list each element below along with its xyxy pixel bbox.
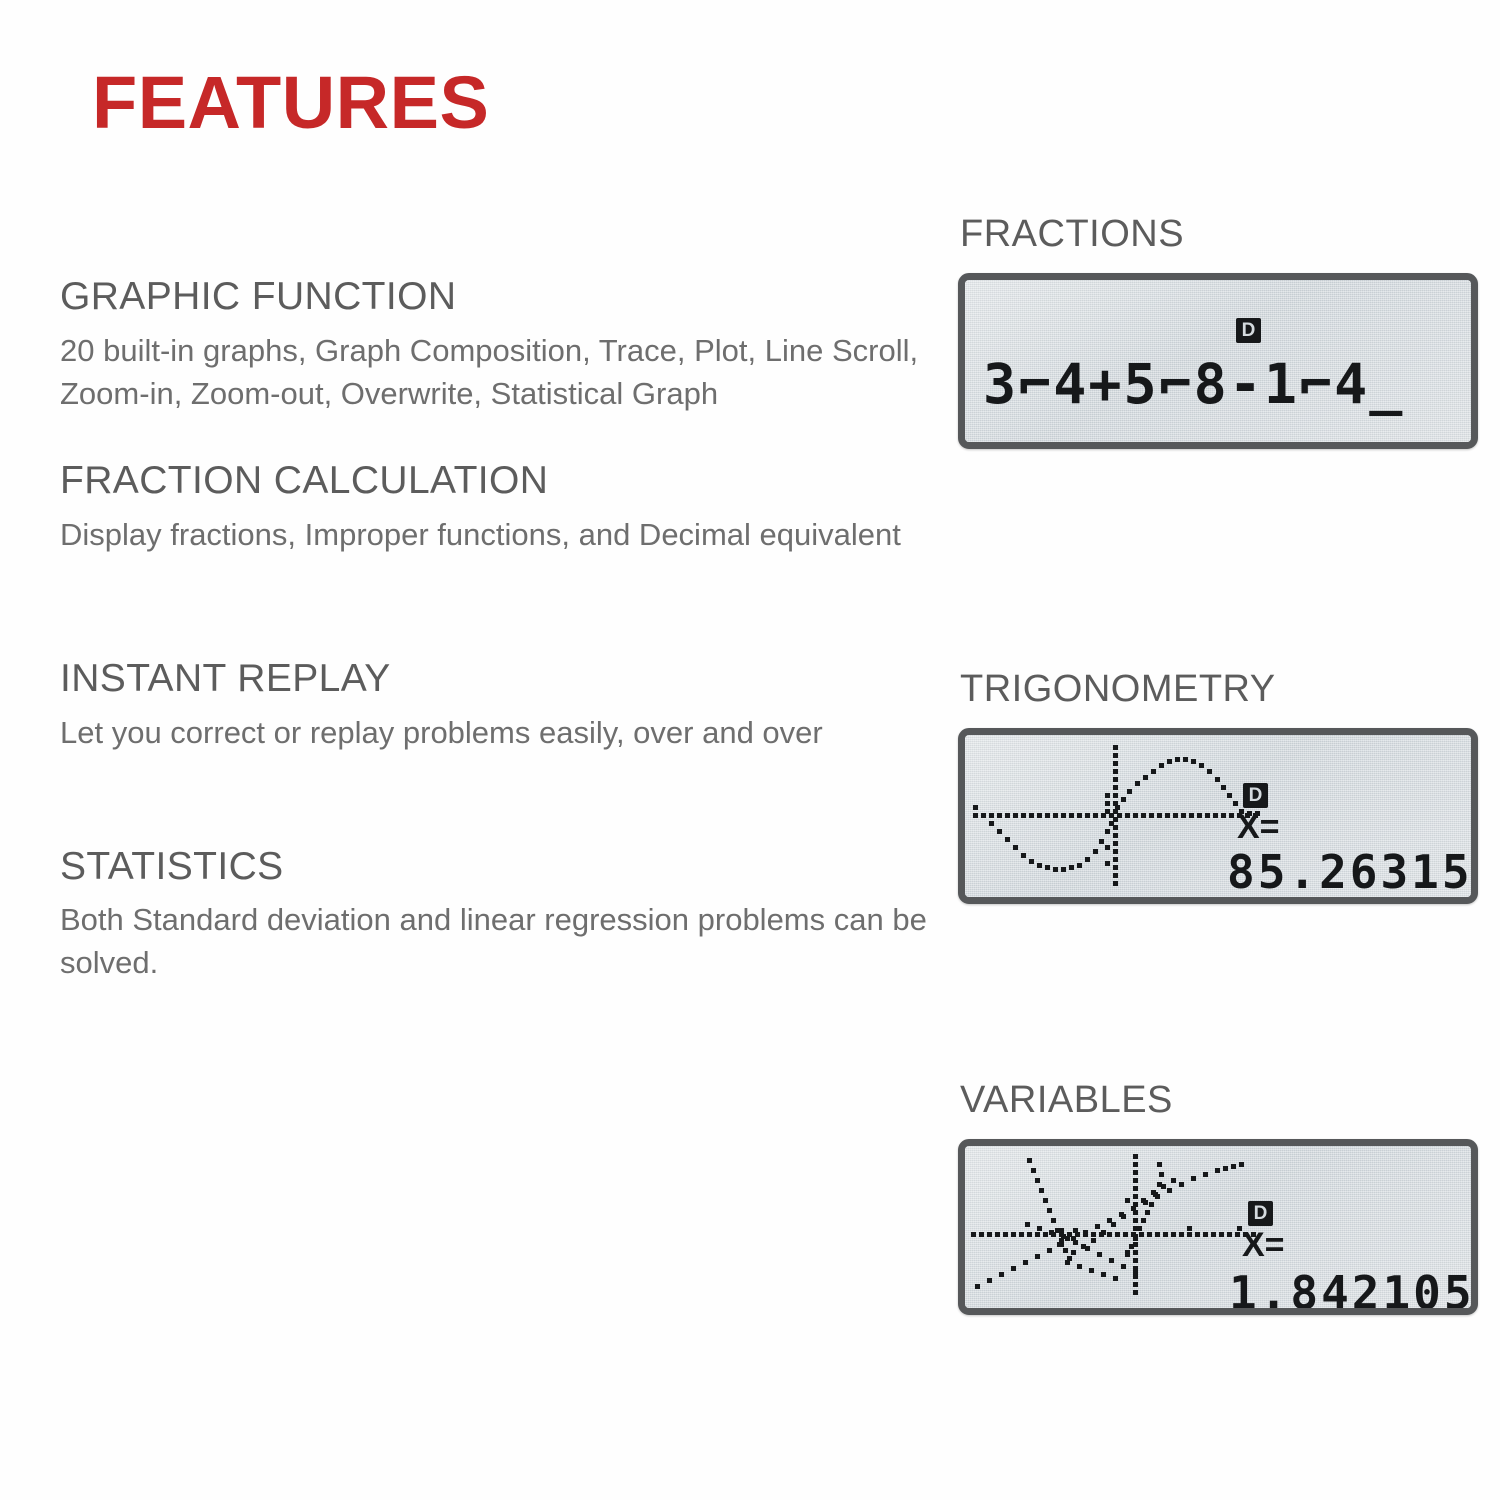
lcd-prompt: X=: [1242, 1226, 1285, 1265]
feature-heading: GRAPHIC FUNCTION: [60, 275, 950, 320]
feature-item-graphic-function: GRAPHIC FUNCTION 20 built-in graphs, Gra…: [60, 275, 950, 415]
feature-item-instant-replay: INSTANT REPLAY Let you correct or replay…: [60, 657, 950, 755]
feature-body: Display fractions, Improper functions, a…: [60, 514, 950, 557]
screen-label: VARIABLES: [960, 1080, 1486, 1122]
calculator-lcd-trigonometry: D X= 85.26315: [958, 728, 1478, 904]
degree-mode-icon: D: [1243, 783, 1268, 808]
screen-block-trigonometry: TRIGONOMETRY: [958, 669, 1486, 904]
degree-mode-icon: D: [1248, 1201, 1273, 1226]
lcd-expression: 3⌐4+5⌐8-1⌐4_: [983, 352, 1404, 416]
feature-body: Let you correct or replay problems easil…: [60, 712, 950, 755]
features-page: FEATURES GRAPHIC FUNCTION 20 built-in gr…: [0, 0, 1500, 1500]
feature-heading: FRACTION CALCULATION: [60, 459, 950, 504]
feature-body: Both Standard deviation and linear regre…: [60, 899, 950, 985]
lcd-value: 85.26315: [1227, 845, 1473, 899]
screen-gallery: FRACTIONS D 3⌐4+5⌐8-1⌐4_ TRIGONOMETRY: [958, 0, 1488, 1500]
screen-label: FRACTIONS: [960, 214, 1486, 256]
screen-block-variables: VARIABLES: [958, 1080, 1486, 1315]
lcd-value: 1.842105: [1229, 1266, 1475, 1315]
feature-list: GRAPHIC FUNCTION 20 built-in graphs, Gra…: [60, 275, 950, 985]
feature-heading: INSTANT REPLAY: [60, 657, 950, 702]
lcd-prompt: X=: [1237, 808, 1280, 847]
feature-item-fraction-calculation: FRACTION CALCULATION Display fractions, …: [60, 459, 950, 557]
feature-heading: STATISTICS: [60, 845, 950, 890]
feature-body: 20 built-in graphs, Graph Composition, T…: [60, 330, 950, 416]
degree-mode-icon: D: [1236, 318, 1261, 343]
calculator-lcd-fractions: D 3⌐4+5⌐8-1⌐4_: [958, 273, 1478, 449]
screen-label: TRIGONOMETRY: [960, 669, 1486, 711]
screen-block-fractions: FRACTIONS D 3⌐4+5⌐8-1⌐4_: [958, 214, 1486, 449]
calculator-lcd-variables: D X= 1.842105: [958, 1139, 1478, 1315]
feature-item-statistics: STATISTICS Both Standard deviation and l…: [60, 845, 950, 985]
page-title: FEATURES: [92, 66, 489, 140]
